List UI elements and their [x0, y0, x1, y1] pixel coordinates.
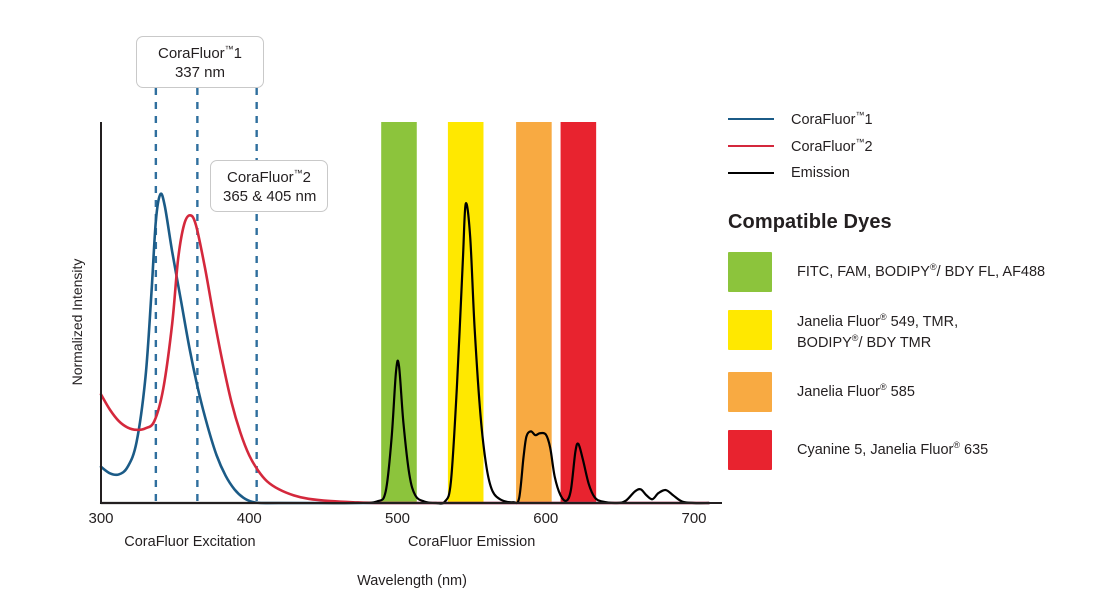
y-axis-title: Normalized Intensity: [69, 259, 85, 386]
legend: CoraFluor™1 CoraFluor™2 Emission Compati…: [728, 105, 1100, 470]
x-axis-title: Wavelength (nm): [357, 573, 467, 589]
legend-item-corafluor1: CoraFluor™1: [728, 105, 1100, 132]
legend-item-emission: Emission: [728, 159, 1100, 186]
trademark-symbol: ™: [294, 168, 303, 178]
trademark-symbol: ™: [225, 44, 234, 54]
region-label-excitation: CoraFluor Excitation: [124, 534, 255, 550]
dye-label: Janelia Fluor® 549, TMR,BODIPY®/ BDY TMR: [797, 310, 958, 354]
x-tick-label-500: 500: [385, 510, 410, 527]
callout-corafluor2-line1: CoraFluor™2: [227, 169, 311, 186]
dye-item-green: FITC, FAM, BODIPY®/ BDY FL, AF488: [728, 252, 1100, 292]
dye-color-swatch: [728, 310, 772, 350]
callout-corafluor1-line1: CoraFluor™1: [158, 45, 242, 62]
dye-item-orange: Janelia Fluor® 585: [728, 372, 1100, 412]
chart-canvas: 300400500600700CoraFluor ExcitationCoraF…: [0, 0, 740, 612]
legend-line-swatch: [728, 145, 774, 147]
registered-symbol: ®: [880, 312, 887, 322]
registered-symbol: ®: [930, 262, 937, 272]
orange-band: [516, 122, 552, 503]
x-tick-label-600: 600: [533, 510, 558, 527]
legend-line-swatch: [728, 118, 774, 120]
region-label-emission: CoraFluor Emission: [408, 534, 535, 550]
registered-symbol: ®: [880, 382, 887, 392]
dye-color-swatch: [728, 430, 772, 470]
dye-label: Cyanine 5, Janelia Fluor® 635: [797, 430, 988, 460]
dye-label: Janelia Fluor® 585: [797, 372, 915, 402]
callout-corafluor2-line2: 365 & 405 nm: [223, 187, 315, 206]
green-band: [381, 122, 417, 503]
legend-line-swatch: [728, 172, 774, 174]
callout-corafluor1: CoraFluor™1 337 nm: [136, 36, 264, 88]
callout-corafluor2: CoraFluor™2 365 & 405 nm: [210, 160, 328, 212]
legend-item-corafluor2: CoraFluor™2: [728, 132, 1100, 159]
dye-color-swatch: [728, 372, 772, 412]
dye-color-swatch: [728, 252, 772, 292]
dye-item-yellow: Janelia Fluor® 549, TMR,BODIPY®/ BDY TMR: [728, 310, 1100, 354]
compatible-dyes-title: Compatible Dyes: [728, 211, 1100, 234]
dye-label: FITC, FAM, BODIPY®/ BDY FL, AF488: [797, 252, 1045, 282]
x-tick-label-700: 700: [681, 510, 706, 527]
x-tick-label-300: 300: [88, 510, 113, 527]
legend-label: CoraFluor™2: [791, 137, 873, 155]
callout-corafluor1-line2: 337 nm: [149, 63, 251, 82]
dye-item-red: Cyanine 5, Janelia Fluor® 635: [728, 430, 1100, 470]
legend-label: CoraFluor™1: [791, 110, 873, 128]
spectra-chart: 300400500600700CoraFluor ExcitationCoraF…: [0, 0, 740, 612]
legend-label: Emission: [791, 165, 850, 181]
x-tick-label-400: 400: [237, 510, 262, 527]
